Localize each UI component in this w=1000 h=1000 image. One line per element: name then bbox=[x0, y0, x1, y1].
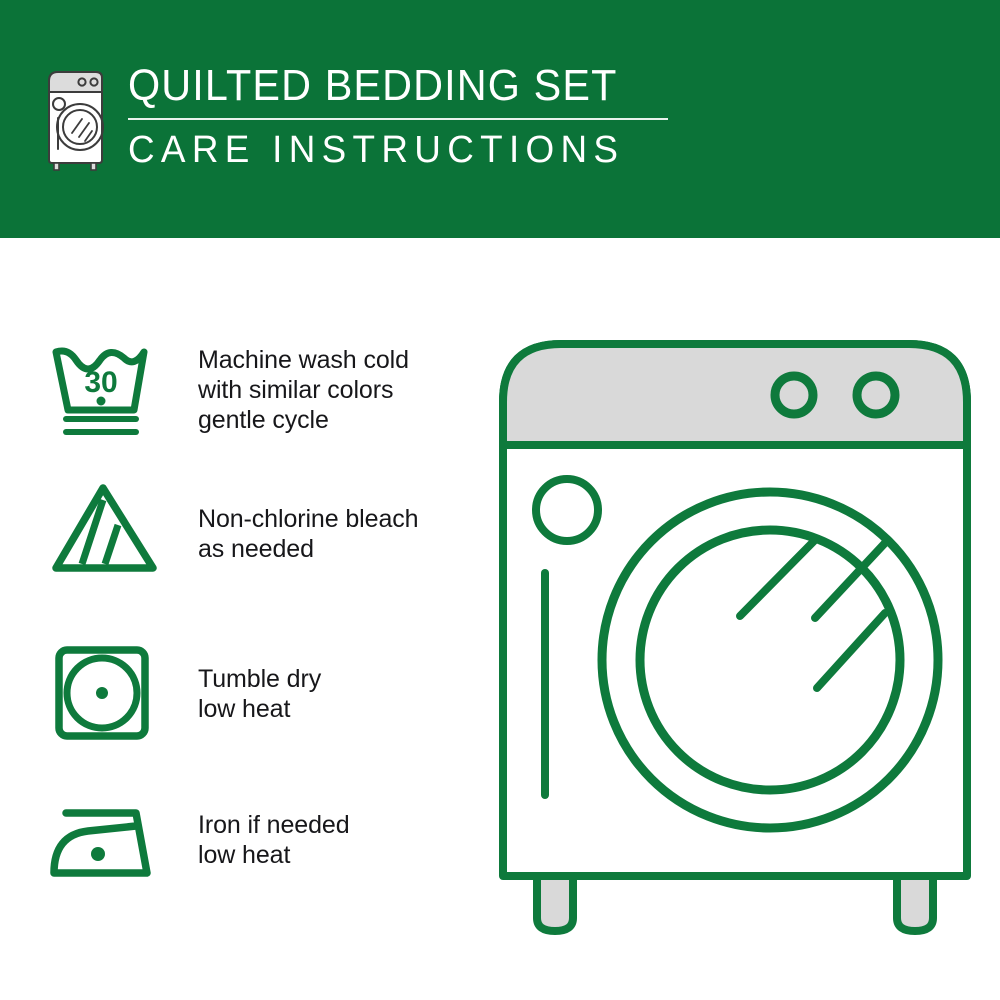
care-item-label: Machine wash cold with similar colors ge… bbox=[198, 338, 409, 435]
care-item-label: Iron if needed low heat bbox=[198, 793, 350, 870]
leg-left bbox=[537, 876, 573, 931]
care-item-wash: 30 Machine wash cold with similar colors… bbox=[48, 338, 409, 443]
page-subtitle: CARE INSTRUCTIONS bbox=[128, 129, 652, 171]
front-load-washing-machine-illustration bbox=[495, 330, 975, 940]
care-item-tumble-dry: Tumble dry low heat bbox=[48, 643, 321, 748]
care-item-bleach: Non-chlorine bleach as needed bbox=[48, 478, 418, 583]
header-title-block: QUILTED BEDDING SET CARE INSTRUCTIONS bbox=[128, 62, 668, 171]
leg-right bbox=[897, 876, 933, 931]
header-content: QUILTED BEDDING SET CARE INSTRUCTIONS bbox=[44, 62, 668, 171]
care-item-label: Non-chlorine bleach as needed bbox=[198, 478, 418, 564]
care-instructions-list: 30 Machine wash cold with similar colors… bbox=[0, 238, 470, 1000]
title-divider bbox=[128, 118, 668, 120]
care-item-iron: Iron if needed low heat bbox=[48, 793, 350, 898]
page-header: QUILTED BEDDING SET CARE INSTRUCTIONS bbox=[0, 0, 1000, 238]
care-item-label: Tumble dry low heat bbox=[198, 643, 321, 724]
page-title: QUILTED BEDDING SET bbox=[128, 62, 636, 110]
wash-tub-30-gentle-icon: 30 bbox=[48, 338, 166, 443]
washing-machine-icon bbox=[44, 67, 106, 171]
bleach-triangle-non-chlorine-icon bbox=[48, 478, 166, 583]
tumble-dry-low-heat-icon bbox=[48, 643, 166, 748]
svg-text:30: 30 bbox=[84, 366, 117, 399]
iron-low-heat-icon bbox=[48, 793, 166, 898]
